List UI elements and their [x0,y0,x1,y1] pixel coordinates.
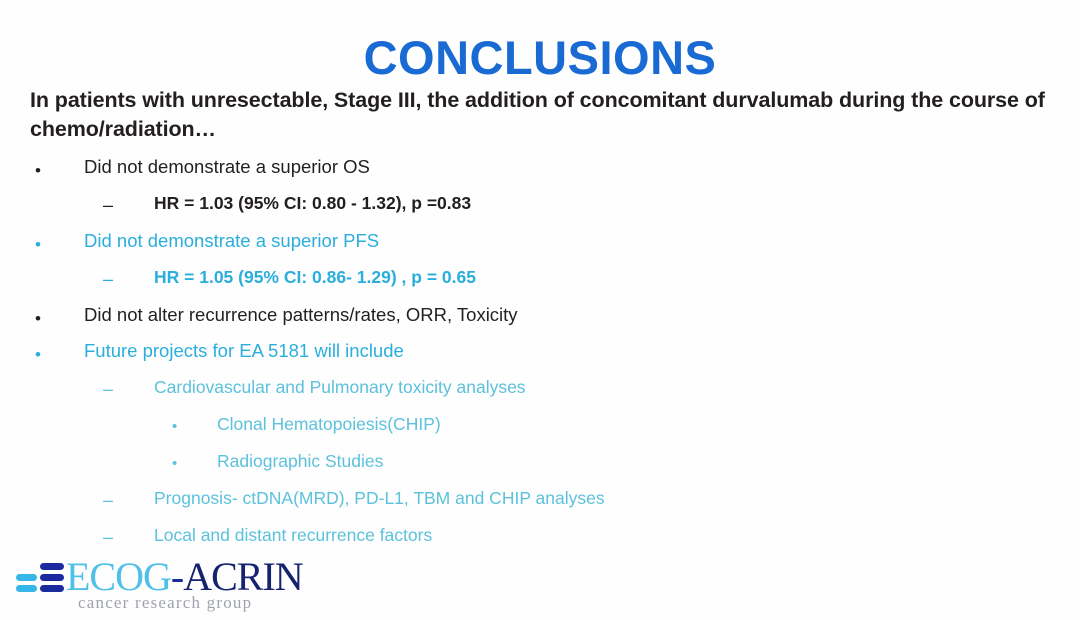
bullet-text: Did not alter recurrence patterns/rates,… [84,306,518,325]
bullet-row: •Clonal Hematopoiesis(CHIP) [0,416,1080,453]
bullet-marker-icon: • [35,162,41,179]
dash-marker-icon: – [103,380,113,398]
dash-marker-icon: – [103,196,113,214]
bullet-text: Cardiovascular and Pulmonary toxicity an… [154,379,526,397]
logo-bar-dark-2 [40,574,64,581]
slide-canvas: CONCLUSIONS In patients with unresectabl… [0,0,1080,620]
bullet-row: •Future projects for EA 5181 will includ… [0,342,1080,379]
bullet-row: –Prognosis- ctDNA(MRD), PD-L1, TBM and C… [0,490,1080,527]
dash-marker-icon: – [103,528,113,546]
bullet-row: •Radiographic Studies [0,453,1080,490]
bullet-row: –HR = 1.03 (95% CI: 0.80 - 1.32), p =0.8… [0,195,1080,232]
bullet-list: •Did not demonstrate a superior OS–HR = … [0,158,1080,564]
bullet-text: Future projects for EA 5181 will include [84,342,404,361]
bullet-marker-icon: • [35,346,41,363]
bullet-row: •Did not alter recurrence patterns/rates… [0,306,1080,343]
bullet-text: Prognosis- ctDNA(MRD), PD-L1, TBM and CH… [154,490,605,508]
ecog-acrin-logo: ECOG-ACRIN cancer research group [16,560,316,616]
bullet-text: Clonal Hematopoiesis(CHIP) [217,416,441,434]
bullet-marker-icon: • [35,310,41,327]
slide-subtitle: In patients with unresectable, Stage III… [30,86,1060,143]
dash-marker-icon: – [103,491,113,509]
bullet-row: •Did not demonstrate a superior OS [0,158,1080,195]
logo-bars-icon [16,562,64,594]
dash-marker-icon: – [103,270,113,288]
bullet-marker-icon: • [172,419,177,434]
bullet-marker-icon: • [35,236,41,253]
bullet-text: Did not demonstrate a superior OS [84,158,370,177]
logo-bar-light-2 [16,585,37,592]
bullet-row: –HR = 1.05 (95% CI: 0.86- 1.29) , p = 0.… [0,269,1080,306]
page-title: CONCLUSIONS [0,33,1080,82]
bullet-text: Did not demonstrate a superior PFS [84,232,379,251]
bullet-row: •Did not demonstrate a superior PFS [0,232,1080,269]
logo-bar-dark-3 [40,585,64,592]
bullet-row: –Cardiovascular and Pulmonary toxicity a… [0,379,1080,416]
bullet-marker-icon: • [172,456,177,471]
bullet-text: Local and distant recurrence factors [154,527,432,545]
logo-bar-light-1 [16,574,37,581]
bullet-text: HR = 1.03 (95% CI: 0.80 - 1.32), p =0.83 [154,195,471,213]
bullet-text: HR = 1.05 (95% CI: 0.86- 1.29) , p = 0.6… [154,269,476,287]
logo-tagline: cancer research group [78,593,252,613]
bullet-text: Radiographic Studies [217,453,383,471]
logo-bar-dark-1 [40,563,64,570]
